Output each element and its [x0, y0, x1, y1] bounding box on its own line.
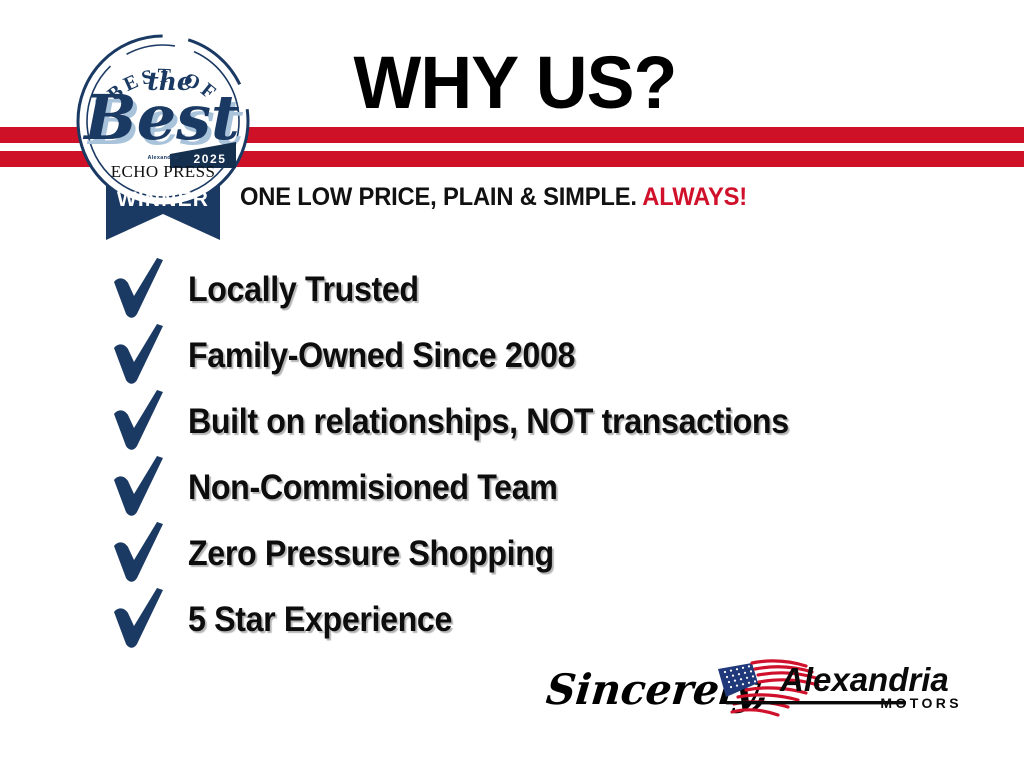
list-item: Locally Trusted: [104, 262, 1004, 328]
logo-subbrand: MOTORS: [880, 695, 962, 711]
list-item-label: Locally Trusted: [188, 270, 419, 310]
subtitle: ONE LOW PRICE, PLAIN & SIMPLE. ALWAYS!: [240, 182, 747, 212]
list-item: 5 Star Experience: [104, 592, 1004, 658]
check-icon: [110, 456, 172, 520]
list-item: Built on relationships, NOT transactions: [104, 394, 1004, 460]
check-icon: [110, 588, 172, 652]
list-item-label: 5 Star Experience: [188, 600, 452, 640]
list-item-label: Zero Pressure Shopping: [188, 534, 554, 574]
check-icon: [110, 522, 172, 586]
check-icon: [110, 390, 172, 454]
logo-rule: [726, 701, 906, 704]
slide-canvas: BEST OF the Best Best 2025 Alexandria EC…: [0, 0, 1024, 768]
benefits-list: Locally Trusted Family-Owned Since 2008 …: [104, 262, 1004, 658]
logo-brand: Alexandria: [779, 661, 949, 698]
badge-script-best: Best: [82, 81, 240, 154]
list-item-label: Non-Commisioned Team: [188, 468, 558, 508]
check-icon: [110, 324, 172, 388]
badge-ribbon-label: WINNER: [117, 188, 209, 211]
page-title: WHY US?: [306, 44, 723, 122]
check-icon: [110, 258, 172, 322]
list-item-label: Family-Owned Since 2008: [188, 336, 575, 376]
list-item-label: Built on relationships, NOT transactions: [188, 402, 789, 442]
alexandria-motors-logo: Alexandria MOTORS: [706, 657, 968, 723]
badge-publisher-small: Alexandria: [147, 155, 179, 161]
subtitle-main: ONE LOW PRICE, PLAIN & SIMPLE.: [240, 183, 637, 211]
best-of-the-best-badge: BEST OF the Best Best 2025 Alexandria EC…: [58, 18, 268, 240]
list-item: Family-Owned Since 2008: [104, 328, 1004, 394]
subtitle-accent: ALWAYS!: [642, 183, 747, 211]
badge-publisher: ECHO PRESS: [111, 162, 216, 181]
list-item: Non-Commisioned Team: [104, 460, 1004, 526]
list-item: Zero Pressure Shopping: [104, 526, 1004, 592]
